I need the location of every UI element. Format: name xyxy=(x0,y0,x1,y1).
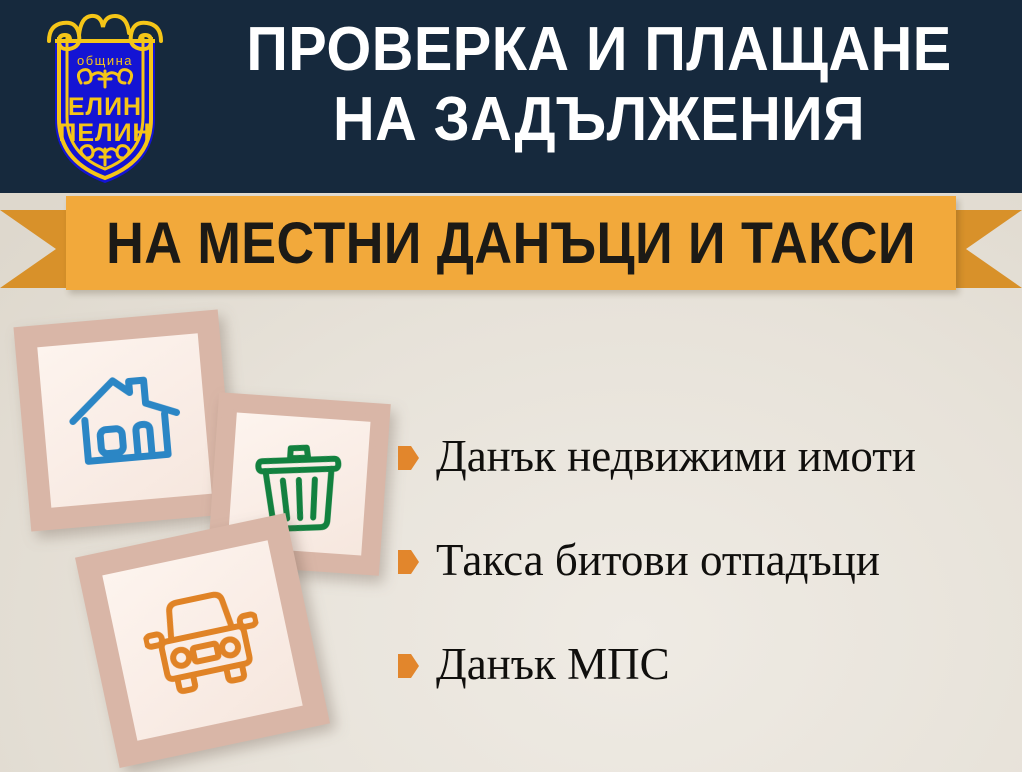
title-line-2: НА ЗАДЪЛЖЕНИЯ xyxy=(333,86,865,154)
crest-line1: ЕЛИН xyxy=(68,93,142,121)
house-icon xyxy=(64,365,184,476)
arrow-bullet-icon xyxy=(398,446,419,470)
ribbon-label: НА МЕСТНИ ДАНЪЦИ И ТАКСИ xyxy=(111,196,912,290)
page-title: ПРОВЕРКА И ПЛАЩАНЕ НА ЗАДЪЛЖЕНИЯ xyxy=(215,16,983,176)
header-banner: община ЕЛИН ПЕЛИН xyxy=(0,0,1022,193)
crest-line2: ПЕЛИН xyxy=(58,119,151,147)
arrow-bullet-icon xyxy=(398,550,419,574)
poster-canvas: община ЕЛИН ПЕЛИН xyxy=(0,0,1022,772)
tax-types-list: Данък недвижими имоти Такса битови отпад… xyxy=(398,428,1018,692)
crest-small-text: община xyxy=(77,53,133,68)
stamp-paper-car xyxy=(102,540,302,740)
car-front-icon xyxy=(135,579,270,703)
stamp-card-house xyxy=(13,309,235,531)
list-item-label: Данък МПС xyxy=(436,639,670,689)
list-item[interactable]: Такса битови отпадъци xyxy=(398,532,1018,588)
list-item[interactable]: Данък недвижими имоти xyxy=(398,428,1018,484)
stamp-paper-house xyxy=(37,333,211,507)
crest-icon: община ЕЛИН ПЕЛИН xyxy=(29,7,181,187)
arrow-bullet-icon xyxy=(398,654,419,678)
title-line-1: ПРОВЕРКА И ПЛАЩАНЕ xyxy=(246,16,951,84)
list-item[interactable]: Данък МПС xyxy=(398,636,1018,692)
list-item-label: Такса битови отпадъци xyxy=(436,535,880,585)
list-item-label: Данък недвижими имоти xyxy=(436,431,916,481)
stamp-card-car xyxy=(75,513,330,768)
coat-of-arms-logo: община ЕЛИН ПЕЛИН xyxy=(29,7,181,187)
subtitle-ribbon: НА МЕСТНИ ДАНЪЦИ И ТАКСИ xyxy=(0,196,1022,304)
